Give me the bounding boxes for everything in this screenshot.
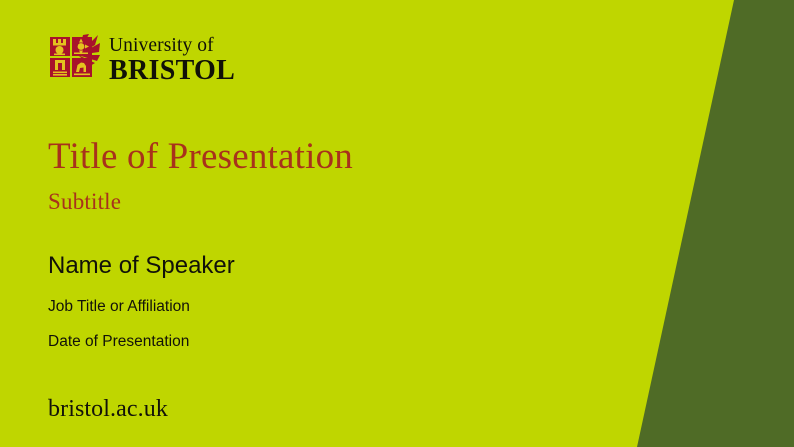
- presentation-title: Title of Presentation: [48, 138, 353, 177]
- wordmark-line-bristol: BRISTOL: [109, 57, 235, 86]
- speaker-name: Name of Speaker: [48, 253, 235, 279]
- footer-website-url: bristol.ac.uk: [48, 396, 168, 422]
- title-slide: University of BRISTOL Title of Presentat…: [0, 0, 794, 447]
- university-logo: University of BRISTOL: [48, 33, 235, 86]
- presentation-date: Date of Presentation: [48, 333, 189, 350]
- speaker-job-title: Job Title or Affiliation: [48, 298, 190, 315]
- university-wordmark: University of BRISTOL: [109, 33, 235, 86]
- university-of-bristol-crest-icon: [48, 33, 100, 85]
- presentation-subtitle: Subtitle: [48, 190, 121, 214]
- wordmark-line-university-of: University of: [109, 35, 235, 56]
